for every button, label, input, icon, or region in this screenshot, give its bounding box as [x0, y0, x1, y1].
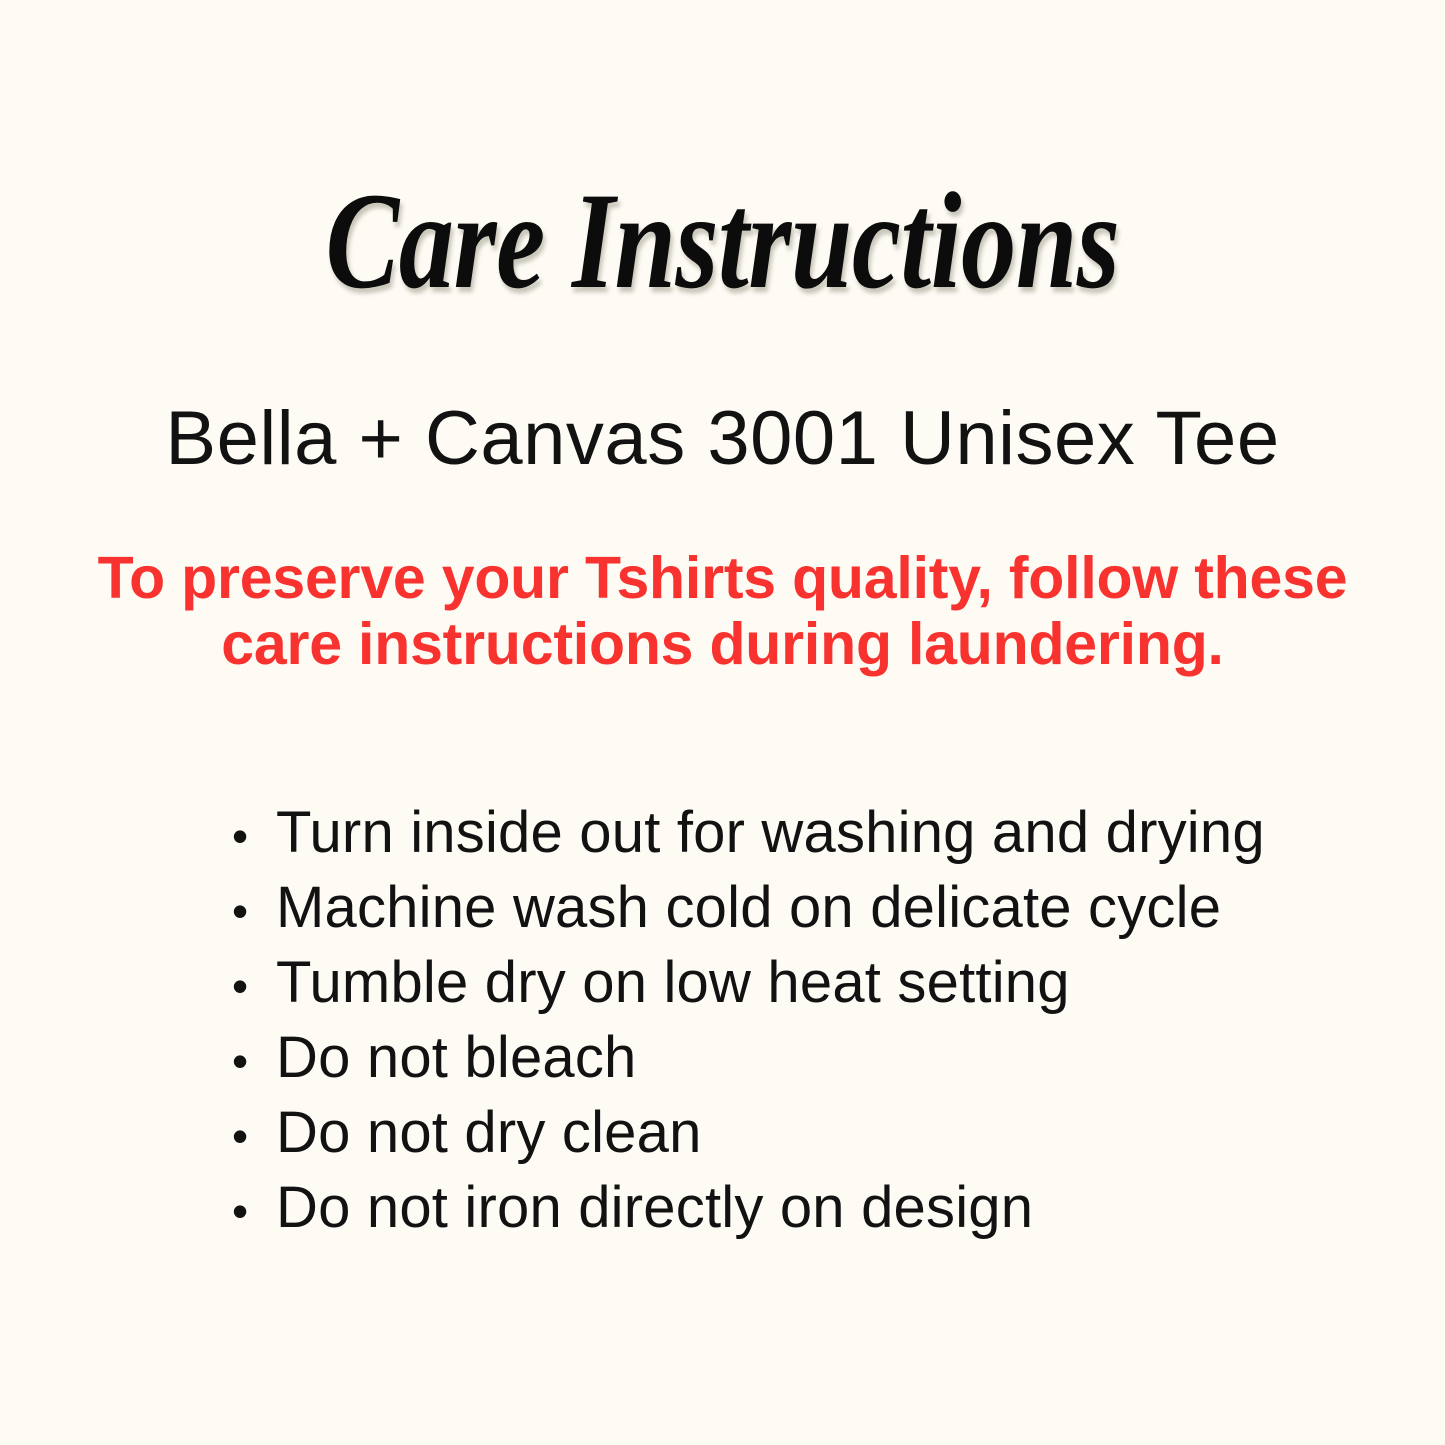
list-item-label: Tumble dry on low heat setting	[276, 945, 1070, 1020]
product-name: Bella + Canvas 3001 Unisex Tee	[0, 397, 1445, 481]
list-item: • Tumble dry on low heat setting	[232, 945, 1332, 1020]
emphasis-line-1: To preserve your Tshirts quality, follow…	[62, 545, 1383, 611]
emphasis-line-2: care instructions during laundering.	[62, 611, 1383, 677]
list-item-label: Do not iron directly on design	[276, 1170, 1033, 1245]
care-instructions-card: Care Instructions Bella + Canvas 3001 Un…	[0, 0, 1445, 1445]
bullet-dot-icon: •	[232, 949, 276, 1024]
list-item-label: Turn inside out for washing and drying	[276, 795, 1265, 870]
bullet-dot-icon: •	[232, 799, 276, 874]
emphasis-note: To preserve your Tshirts quality, follow…	[62, 545, 1383, 677]
list-item: • Do not bleach	[232, 1020, 1332, 1095]
list-item: • Do not iron directly on design	[232, 1170, 1332, 1245]
bullet-dot-icon: •	[232, 1174, 276, 1249]
care-instructions-list: • Turn inside out for washing and drying…	[232, 795, 1332, 1245]
list-item: • Machine wash cold on delicate cycle	[232, 870, 1332, 945]
bullet-dot-icon: •	[232, 1024, 276, 1099]
list-item-label: Machine wash cold on delicate cycle	[276, 870, 1221, 945]
list-item: • Do not dry clean	[232, 1095, 1332, 1170]
bullet-dot-icon: •	[232, 874, 276, 949]
bullet-dot-icon: •	[232, 1099, 276, 1174]
list-item-label: Do not dry clean	[276, 1095, 702, 1170]
list-item-label: Do not bleach	[276, 1020, 637, 1095]
list-item: • Turn inside out for washing and drying	[232, 795, 1332, 870]
page-title: Care Instructions	[145, 166, 1301, 315]
